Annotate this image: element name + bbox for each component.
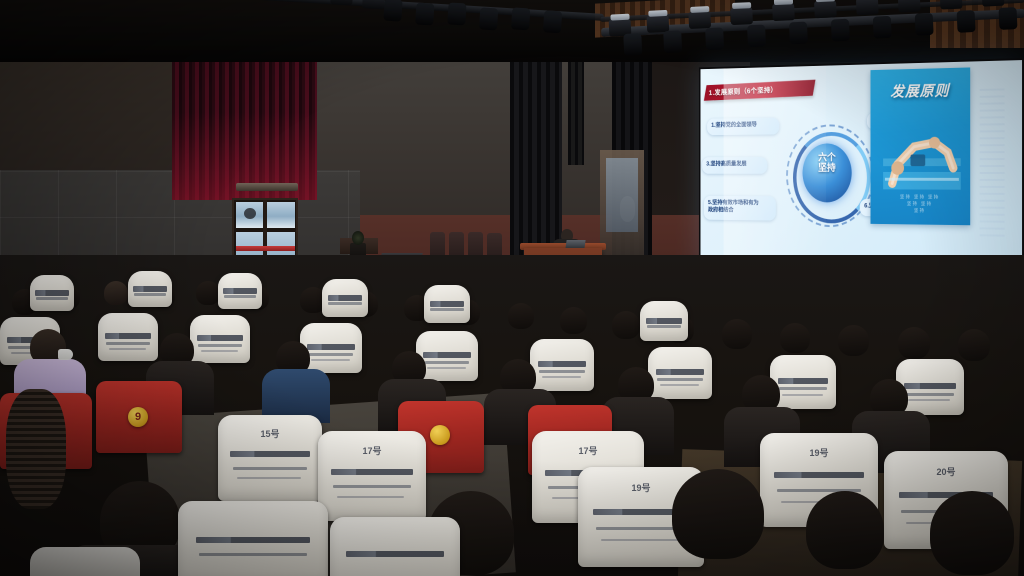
seat-cover xyxy=(300,323,362,373)
seat-number-text: 17号 xyxy=(318,444,426,457)
seat-cover xyxy=(424,285,470,323)
audience-shoulders xyxy=(30,547,140,576)
projection-screen: 1.发展原则（6个坚持） 六个 坚持 1.坚持党的全面领导 3.坚持高质量发展 … xyxy=(699,58,1024,284)
audience-head-foreground xyxy=(806,491,884,569)
audience-head xyxy=(560,307,587,334)
exit-door-glass-pane xyxy=(267,202,295,228)
auditorium-screenshot: 1.发展原则（6个坚持） 六个 坚持 1.坚持党的全面领导 3.坚持高质量发展 … xyxy=(0,0,1024,576)
seat-cover-foreground xyxy=(178,501,328,576)
seat-cover xyxy=(218,273,262,309)
seat-number-text: 15号 xyxy=(218,427,322,440)
audience-head xyxy=(104,281,128,305)
audience-head-foreground xyxy=(672,469,764,559)
seat-number-badge xyxy=(430,425,450,445)
stage-curtain-black-mid xyxy=(568,45,584,165)
seat-cover: 17号 xyxy=(318,431,426,521)
stage-side-door-glass xyxy=(606,158,638,232)
seat-cover xyxy=(98,313,158,361)
audience-head xyxy=(612,311,640,339)
seat-cover xyxy=(128,271,172,307)
seat-cover xyxy=(322,279,368,317)
audience-head-foreground xyxy=(930,491,1014,575)
seat-cover xyxy=(640,301,688,341)
seat-number-badge: 9 xyxy=(128,407,148,427)
screen-frame xyxy=(699,58,1024,284)
stage-curtain-left xyxy=(172,40,317,200)
audience-area: 9 15号 17号 17号 19号 19号 xyxy=(0,255,1024,576)
seat-cover xyxy=(530,339,594,391)
door-decal-icon xyxy=(244,208,256,219)
door-header-light xyxy=(236,183,298,191)
audience-head xyxy=(958,329,990,361)
seat-number-text: 20号 xyxy=(884,465,1008,478)
exit-door-push-bar[interactable] xyxy=(236,246,295,251)
audience-braided-hair xyxy=(6,389,66,509)
audience-head xyxy=(898,327,930,359)
seat-number-text: 19号 xyxy=(760,446,878,459)
seat-cover-foreground xyxy=(330,517,460,576)
face-mask xyxy=(58,349,73,360)
seat-number-text: 9 xyxy=(128,407,148,427)
seat-cover xyxy=(770,355,836,409)
audience-head xyxy=(722,319,752,349)
seat-cover xyxy=(190,315,250,363)
audience-head xyxy=(196,281,220,305)
seat-number-text: 17号 xyxy=(532,444,644,457)
seat-cover: 15号 xyxy=(218,415,322,501)
audience-head xyxy=(508,303,534,329)
audience-head xyxy=(780,323,810,353)
seat-cover xyxy=(30,275,74,311)
audience-head xyxy=(838,325,869,356)
seat-cover xyxy=(648,347,712,399)
